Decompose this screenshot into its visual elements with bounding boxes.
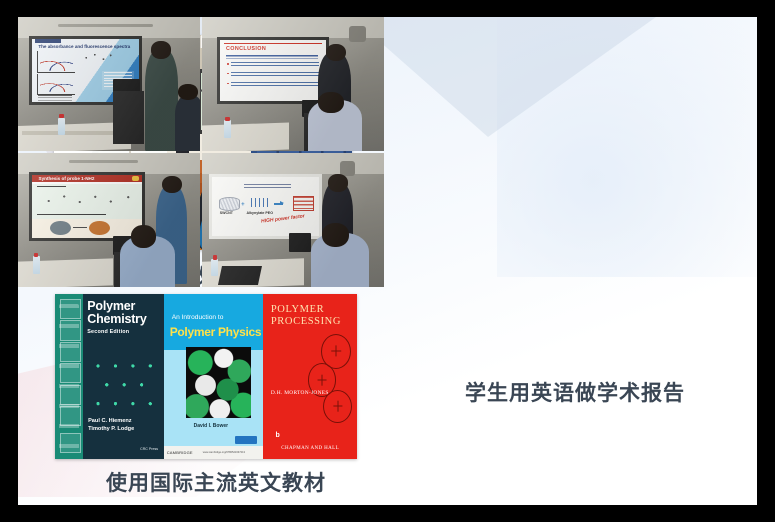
book1-author-1: Paul C. Hiemenz <box>88 417 134 425</box>
book2-url: www.cambridge.org/9780521637213 <box>193 451 245 454</box>
book-spine-pattern <box>55 294 83 459</box>
book2-author: David I. Bower <box>194 423 228 429</box>
book1-author-2: Timothy P. Lodge <box>88 425 134 433</box>
photo-shading <box>18 17 200 151</box>
caption-presentations: 学生用英语做学术报告 <box>465 377 685 407</box>
background-glow <box>497 17 757 277</box>
photo-shading <box>18 153 200 287</box>
slide-frame: 外教授课 Polymer Chemistry Second Edition Pa… <box>18 17 757 505</box>
book-polymer-chemistry: Polymer Chemistry Second Edition Paul C.… <box>55 294 164 459</box>
presentation-absorbance-spectra: The absorbance and fluorescence spectra <box>18 17 200 151</box>
photo-shading <box>202 17 384 151</box>
book3-publisher-logo-icon: b <box>276 432 280 439</box>
book3-title-line1: POLYMER <box>271 304 341 316</box>
book1-front: Polymer Chemistry Second Edition Paul C.… <box>83 294 163 459</box>
book2-title-line1: An Introduction to <box>172 314 224 321</box>
book2-title-line2: Polymer Physics <box>170 325 262 339</box>
book1-edition: Second Edition <box>87 329 158 335</box>
book-polymer-physics: An Introduction to Polymer Physics David… <box>164 294 264 459</box>
book1-authors: Paul C. Hiemenz Timothy P. Lodge <box>88 417 134 433</box>
textbook-covers-photo: Polymer Chemistry Second Edition Paul C.… <box>55 294 357 459</box>
book-polymer-processing: POLYMER PROCESSING D.H. MORTON-JONES b C… <box>263 294 357 459</box>
book2-publisher: CAMBRIDGE <box>164 450 193 455</box>
book2-badge <box>235 436 257 444</box>
book3-publisher: CHAPMAN AND HALL <box>263 446 357 451</box>
book1-lattice-graphic <box>90 360 158 419</box>
book3-title: POLYMER PROCESSING <box>271 304 341 328</box>
book3-author: D.H. MORTON-JONES <box>271 390 329 396</box>
book1-title-line2: Chemistry <box>87 313 158 326</box>
slide-root: 外教授课 Polymer Chemistry Second Edition Pa… <box>0 0 775 522</box>
book2-molecule-image <box>186 347 252 418</box>
book3-title-line2: PROCESSING <box>271 316 341 328</box>
presentation-conclusion: CONCLUSION <box>202 17 384 151</box>
caption-books: 使用国际主流英文教材 <box>106 467 326 497</box>
presentation-synthesis: Synthesis of probe 1-NH2 <box>18 153 200 287</box>
photo-shading <box>202 153 384 287</box>
book1-publisher: CRC Press <box>140 447 158 451</box>
book2-footer: CAMBRIDGE www.cambridge.org/978052163721… <box>164 446 264 459</box>
presentation-swcnt: + SWCNT Alkynylate PEO HIGH power factor <box>202 153 384 287</box>
